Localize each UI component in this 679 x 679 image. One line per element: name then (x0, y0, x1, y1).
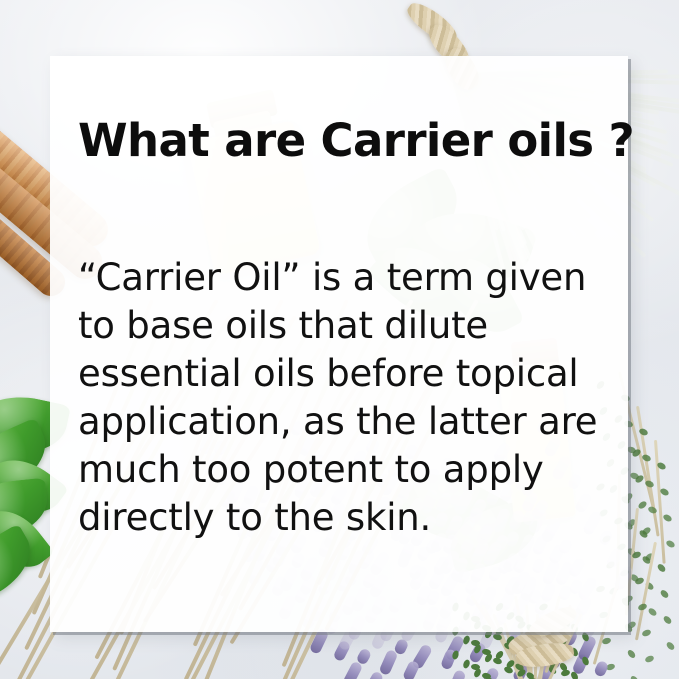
body-paragraph: “Carrier Oil” is a term given to base oi… (78, 254, 618, 542)
body-line: “Carrier Oil” is a term given (78, 254, 618, 302)
white-content-panel: What are Carrier oils ? “Carrier Oil” is… (50, 56, 628, 632)
page-title: What are Carrier oils ? (78, 118, 634, 163)
body-line: application, as the latter are (78, 398, 618, 446)
panel-content: What are Carrier oils ? “Carrier Oil” is… (50, 56, 628, 632)
body-line: directly to the skin. (78, 494, 618, 542)
infographic-canvas: What are Carrier oils ? “Carrier Oil” is… (0, 0, 679, 679)
body-line: essential oils before topical (78, 350, 618, 398)
body-line: to base oils that dilute (78, 302, 618, 350)
body-line: much too potent to apply (78, 446, 618, 494)
